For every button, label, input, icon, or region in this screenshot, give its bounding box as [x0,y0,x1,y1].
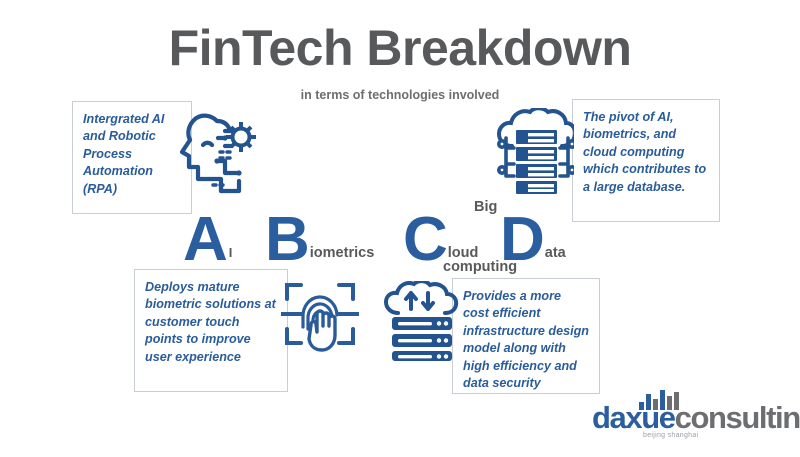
callout-ai: Intergrated AI and Robotic Process Autom… [72,101,192,214]
letter-tail-biometrics: iometrics [310,245,374,261]
cloud-database-circuit-icon [496,108,574,213]
letter-block-big-data: Data [500,209,565,271]
callout-cloud-computing: Provides a more cost efficient infrastru… [452,278,600,394]
letter-prefix-big: Big [474,199,497,215]
letter-block-biometrics: Biometrics [265,209,373,271]
daxue-consulting-logo[interactable]: daxueconsulting beijing shanghai [592,390,792,440]
infographic-canvas: FinTech Breakdown in terms of technologi… [0,0,800,457]
logo-tagline: beijing shanghai [643,432,698,439]
fingerprint-scan-icon [281,277,359,364]
big-letter-b: B [265,205,309,274]
letter-tail-ai: I [229,245,233,260]
letter-tail-data: ata [545,245,566,261]
logo-brand-secondary: consulting [675,400,800,435]
ai-head-gear-icon [177,107,261,212]
big-letter-d: D [500,205,544,274]
letter-block-ai: AI [183,209,230,271]
big-letter-c: C [403,205,447,274]
callout-big-data: The pivot of AI, biometrics, and cloud c… [572,99,720,222]
logo-wordmark: daxueconsulting [592,402,800,433]
callout-biometrics: Deploys mature biometric solutions at cu… [134,269,288,392]
big-letter-a: A [183,205,227,274]
logo-brand-primary: daxue [592,400,675,435]
page-title: FinTech Breakdown [0,22,800,75]
cloud-server-sync-icon [384,281,460,366]
